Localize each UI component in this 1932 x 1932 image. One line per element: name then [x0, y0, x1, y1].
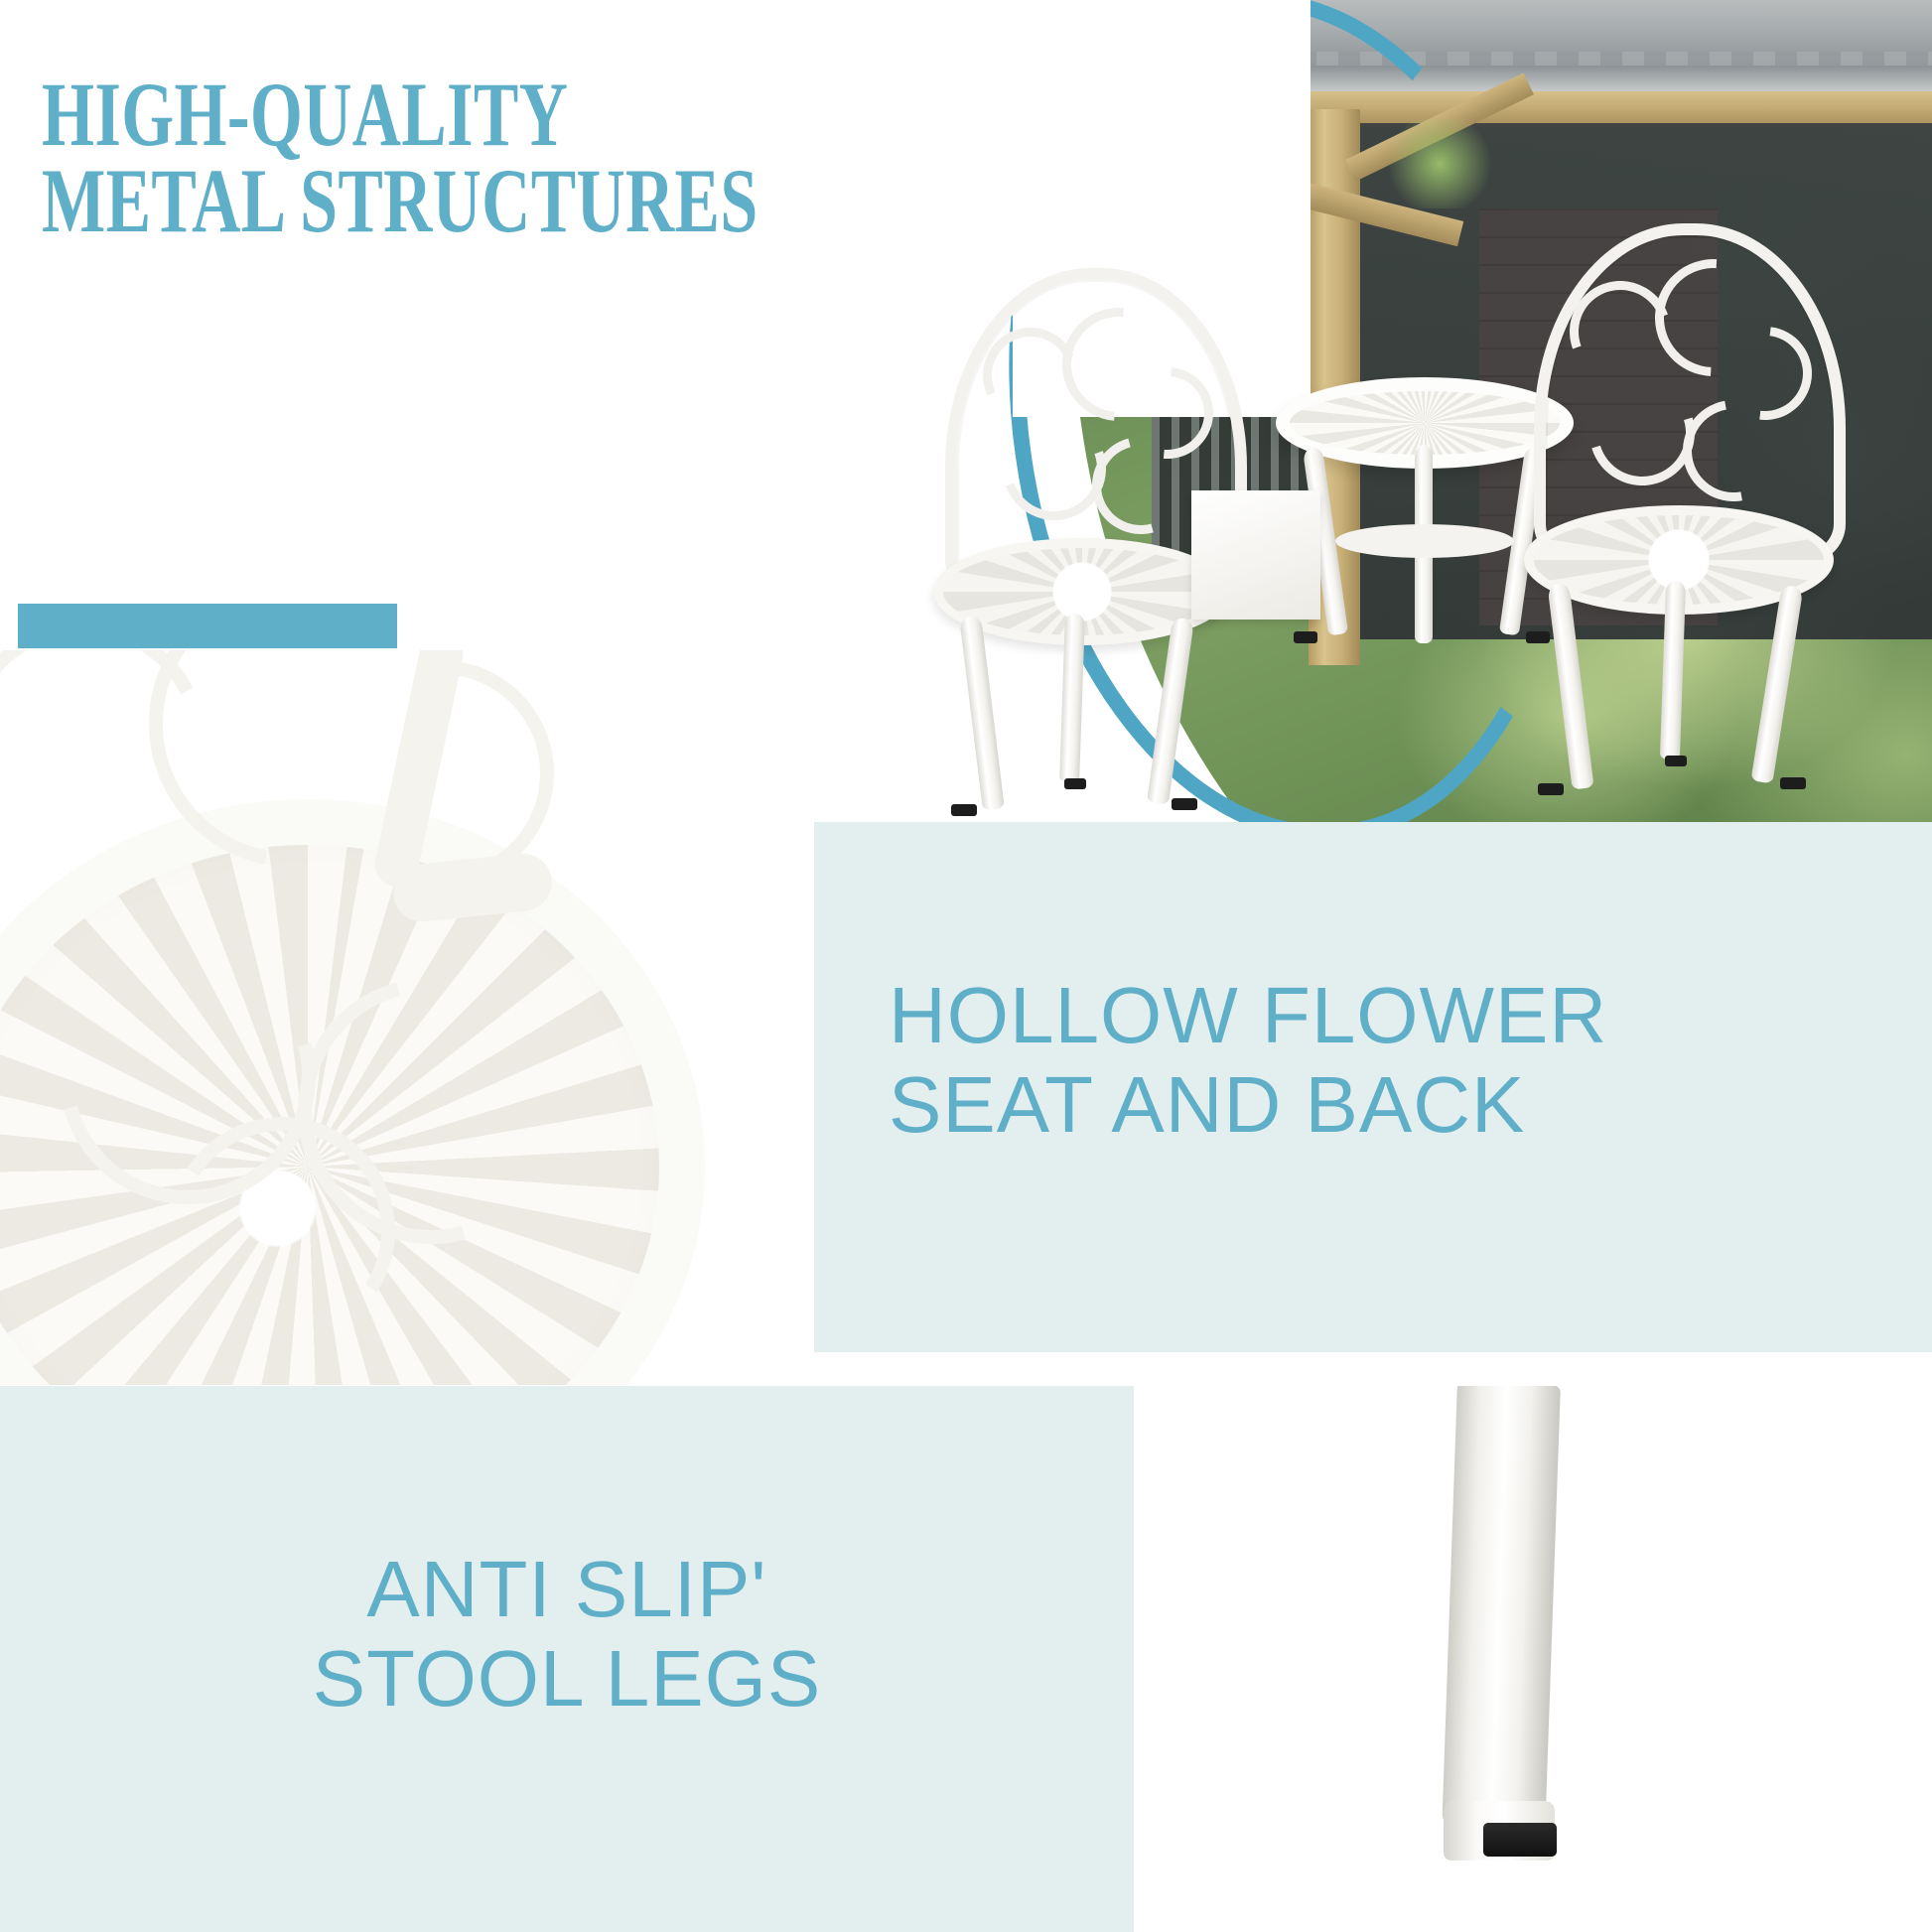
leg-shaft: [1442, 1386, 1561, 1845]
section-2-heading: HOLLOW FLOWER SEAT AND BACK: [889, 971, 1607, 1149]
bistro-table-shelf: [1335, 524, 1514, 558]
section-3-heading-line-1: ANTI SLIP': [0, 1545, 1134, 1634]
chair-right-foot-1: [1538, 783, 1564, 795]
section-1-heading-line-2: METAL STRUCTURES: [42, 158, 759, 244]
bistro-table-foot-1: [1294, 631, 1317, 643]
chair-right-foot-2: [1780, 777, 1806, 789]
section-3-heading: ANTI SLIP' STOOL LEGS: [0, 1545, 1134, 1723]
white-cushion: [1191, 490, 1320, 620]
chair-right-leg-front-right: [1750, 585, 1803, 784]
section-2-heading-line-1: HOLLOW FLOWER: [889, 971, 1607, 1060]
pierced-floral-seat-closeup: [0, 650, 814, 1385]
anti-slip-foot-cap: [1483, 1823, 1557, 1857]
chair-leg-with-black-foot-cap-closeup: [1134, 1386, 1932, 1932]
chair-right-leg-front-left: [1547, 582, 1593, 789]
section-1-heading-line-1: HIGH-QUALITY: [42, 71, 759, 158]
decor-bar-long: [18, 604, 397, 648]
section-3-heading-line-2: STOOL LEGS: [0, 1634, 1134, 1724]
section-1-heading: HIGH-QUALITY METAL STRUCTURES: [42, 71, 759, 245]
chair-right: [1524, 223, 1921, 779]
chair-left-leg-front-left: [959, 615, 1005, 810]
infographic-canvas: HIGH-QUALITY METAL STRUCTURES: [0, 0, 1932, 1932]
chair-right-foot-3: [1665, 756, 1687, 766]
chair-left-foot-3: [1064, 778, 1086, 789]
chair-left-foot-1: [951, 804, 977, 816]
section-2-heading-line-2: SEAT AND BACK: [889, 1060, 1607, 1150]
chair-left-foot-2: [1172, 798, 1197, 810]
